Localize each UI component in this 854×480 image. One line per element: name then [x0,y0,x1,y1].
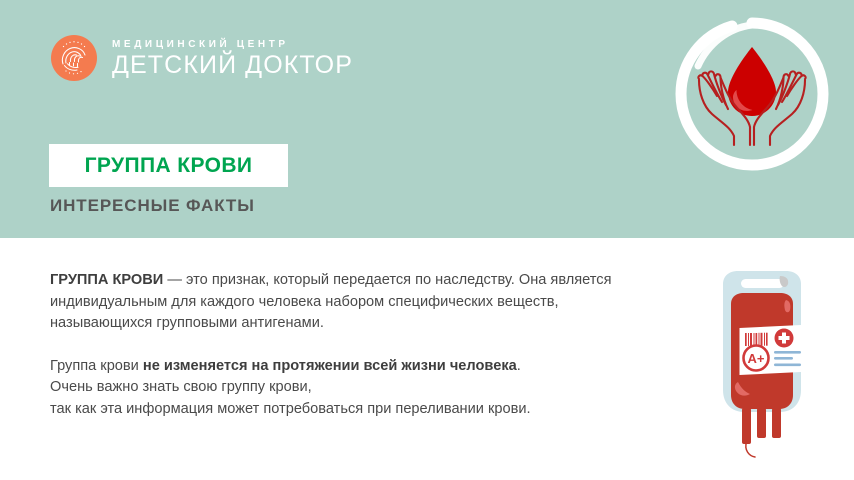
brand-text-block: МЕДИЦИНСКИЙ ЦЕНТР ДЕТСКИЙ ДОКТОР [112,37,353,80]
bag-handle-slot [741,279,784,288]
body-copy: ГРУППА КРОВИ — это признак, который пере… [50,270,660,420]
hands-holding-blood-drop-icon [672,14,832,174]
brand-name: ДЕТСКИЙ ДОКТОР [112,51,353,80]
paragraph-2-after: . [517,358,521,374]
paragraph-2-line-2: Очень важно знать свою группу крови, [50,377,660,399]
brand-lockup: МЕДИЦИНСКИЙ ЦЕНТР ДЕТСКИЙ ДОКТОР [50,34,353,82]
subtitle: ИНТЕРЕСНЫЕ ФАКТЫ [50,196,255,216]
medical-cross-icon [775,329,794,348]
bag-tubes [742,408,781,444]
title-badge: ГРУППА КРОВИ [49,144,288,187]
paragraph-2-bold: не изменяется на протяжении всей жизни ч… [143,358,517,374]
bag-drip-line [746,442,755,457]
paragraph-1-lead: ГРУППА КРОВИ [50,272,163,288]
blood-type-text: A+ [748,351,765,366]
bag-label: A+ [740,325,802,375]
paragraph-1: ГРУППА КРОВИ — это признак, который пере… [50,270,660,335]
paragraph-spacer [50,335,660,356]
clinic-logo-icon [50,34,98,82]
label-barcode [745,333,768,346]
paragraph-2-before: Группа крови [50,358,143,374]
slide-root: МЕДИЦИНСКИЙ ЦЕНТР ДЕТСКИЙ ДОКТОР ГРУППА … [0,0,854,480]
title-badge-text: ГРУППА КРОВИ [85,154,253,178]
blood-bag-illustration: A+ [694,262,824,477]
brand-eyebrow: МЕДИЦИНСКИЙ ЦЕНТР [112,39,353,51]
paragraph-2-line-3: так как эта информация может потребовать… [50,399,660,421]
paragraph-2-line-1: Группа крови не изменяется на протяжении… [50,356,660,378]
